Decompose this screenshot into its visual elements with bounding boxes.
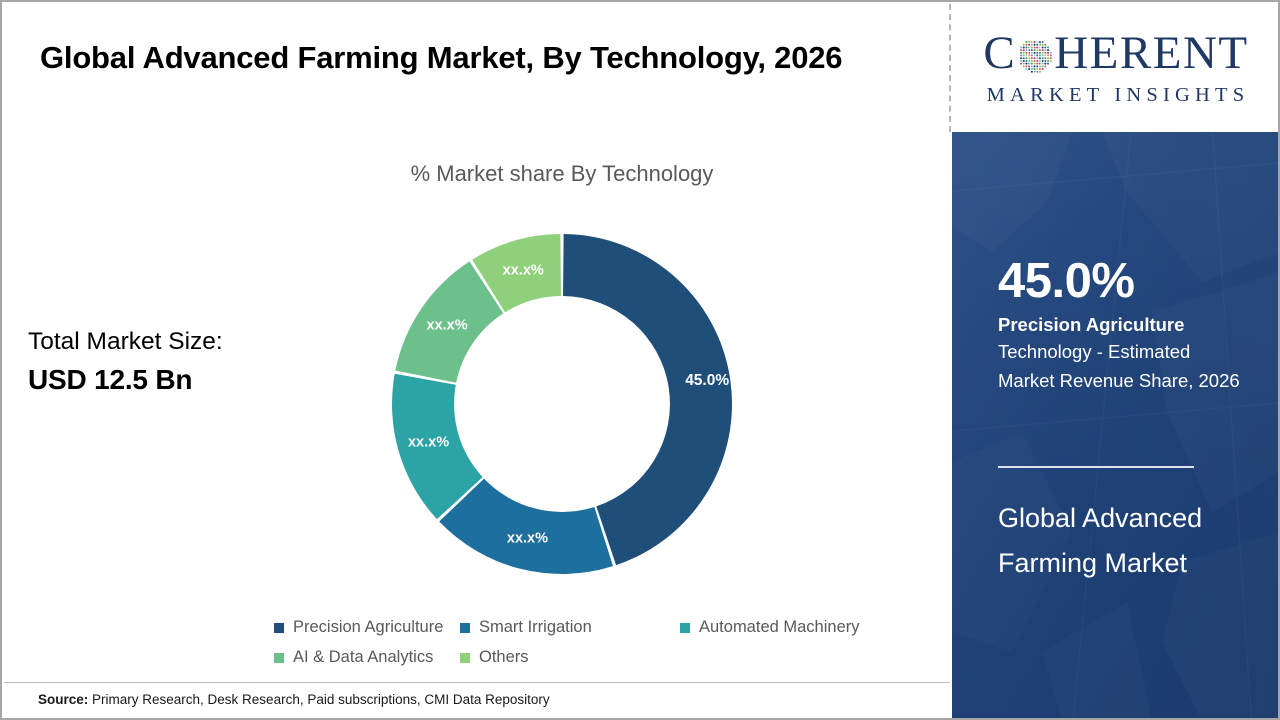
- legend-item[interactable]: Precision Agriculture: [274, 618, 460, 637]
- globe-dot: [1036, 46, 1038, 48]
- logo-wordmark: C HERENT: [983, 30, 1250, 77]
- donut-slice-group: [392, 234, 732, 574]
- globe-dot: [1020, 57, 1022, 59]
- globe-dot: [1023, 43, 1025, 45]
- globe-dot: [1023, 49, 1025, 51]
- chart-subtitle: % Market share By Technology: [302, 161, 822, 187]
- globe-dot: [1045, 62, 1047, 64]
- legend-row: Precision AgricultureSmart IrrigationAut…: [274, 618, 894, 648]
- total-market-size-block: Total Market Size: USD 12.5 Bn: [28, 324, 328, 399]
- globe-dot: [1042, 68, 1044, 70]
- globe-dot: [1031, 46, 1033, 48]
- logo-letters-herent: HERENT: [1054, 30, 1248, 77]
- logo-letter-c: C: [983, 30, 1016, 77]
- globe-dot: [1039, 57, 1041, 59]
- globe-dot: [1050, 60, 1052, 62]
- globe-dot: [1050, 52, 1052, 54]
- logo-tagline: MARKET INSIGHTS: [983, 85, 1250, 106]
- chart-legend: Precision AgricultureSmart IrrigationAut…: [274, 618, 894, 678]
- globe-dot: [1036, 65, 1038, 67]
- globe-dot: [1023, 57, 1025, 59]
- legend-swatch-icon: [680, 623, 690, 633]
- globe-dot: [1026, 46, 1028, 48]
- globe-dot: [1026, 60, 1028, 62]
- source-line: Source: Primary Research, Desk Research,…: [38, 692, 550, 707]
- globe-dot: [1039, 52, 1041, 54]
- globe-dot: [1042, 49, 1044, 51]
- globe-dot: [1045, 57, 1047, 59]
- globe-dot: [1020, 52, 1022, 54]
- globe-dot: [1034, 65, 1036, 67]
- coherent-market-insights-logo: C HERENT MARKET INSIGHTS: [983, 30, 1250, 106]
- legend-item[interactable]: Others: [460, 648, 680, 667]
- globe-dot: [1042, 62, 1044, 64]
- stat-footer-title: Global Advanced Farming Market: [998, 496, 1243, 586]
- globe-dot: [1036, 49, 1038, 51]
- globe-dot: [1023, 46, 1025, 48]
- legend-label: Precision Agriculture: [293, 618, 443, 637]
- world-map-texture: [952, 132, 1280, 720]
- globe-dot: [1026, 43, 1028, 45]
- page-title: Global Advanced Farming Market, By Techn…: [40, 34, 920, 82]
- globe-dot: [1031, 70, 1033, 72]
- source-divider: [4, 682, 950, 683]
- globe-dot: [1020, 60, 1022, 62]
- globe-dot: [1047, 49, 1049, 51]
- globe-dot: [1050, 57, 1052, 59]
- stat-content: 45.0% Precision Agriculture Technology -…: [998, 256, 1243, 396]
- globe-dot: [1042, 65, 1044, 67]
- stat-category-name: Precision Agriculture: [998, 313, 1243, 337]
- globe-dot: [1047, 46, 1049, 48]
- globe-dot: [1023, 65, 1025, 67]
- donut-slice-label: xx.x%: [503, 262, 544, 278]
- globe-dot: [1026, 62, 1028, 64]
- globe-dot: [1023, 60, 1025, 62]
- globe-dot: [1036, 60, 1038, 62]
- source-label: Source:: [38, 692, 88, 707]
- donut-slice-label: xx.x%: [408, 435, 449, 451]
- globe-dot: [1045, 52, 1047, 54]
- globe-dot: [1026, 49, 1028, 51]
- globe-dot: [1034, 62, 1036, 64]
- legend-item[interactable]: Automated Machinery: [680, 618, 860, 637]
- globe-dot: [1034, 60, 1036, 62]
- globe-dot: [1036, 62, 1038, 64]
- globe-dot: [1031, 65, 1033, 67]
- legend-label: Automated Machinery: [699, 618, 860, 637]
- globe-dot: [1026, 68, 1028, 70]
- globe-dot: [1034, 43, 1036, 45]
- legend-row: AI & Data AnalyticsOthers: [274, 648, 894, 678]
- globe-dot: [1034, 49, 1036, 51]
- legend-label: Smart Irrigation: [479, 618, 592, 637]
- legend-item[interactable]: AI & Data Analytics: [274, 648, 460, 667]
- globe-dot: [1034, 41, 1036, 43]
- left-content-area: Global Advanced Farming Market, By Techn…: [2, 2, 950, 720]
- globe-dot: [1020, 49, 1022, 51]
- globe-dot: [1036, 43, 1038, 45]
- globe-dot: [1034, 57, 1036, 59]
- globe-dot: [1026, 41, 1028, 43]
- logo-panel: C HERENT MARKET INSIGHTS: [952, 4, 1280, 132]
- globe-dot: [1047, 60, 1049, 62]
- globe-dot: [1039, 60, 1041, 62]
- globe-dot: [1031, 60, 1033, 62]
- donut-chart-svg: 45.0%xx.x%xx.x%xx.x%xx.x%: [387, 229, 737, 579]
- globe-dot: [1045, 49, 1047, 51]
- globe-dot: [1047, 57, 1049, 59]
- globe-dot: [1026, 57, 1028, 59]
- globe-dot: [1031, 52, 1033, 54]
- globe-dot: [1045, 65, 1047, 67]
- dotted-globe-icon: [1017, 38, 1053, 74]
- stat-value: 45.0%: [998, 256, 1243, 307]
- total-market-size-label: Total Market Size:: [28, 324, 328, 360]
- globe-dot: [1020, 46, 1022, 48]
- globe-dot: [1034, 46, 1036, 48]
- legend-swatch-icon: [274, 623, 284, 633]
- globe-dot: [1031, 49, 1033, 51]
- globe-dot: [1039, 49, 1041, 51]
- globe-dot: [1042, 41, 1044, 43]
- globe-dot: [1026, 65, 1028, 67]
- donut-chart: 45.0%xx.x%xx.x%xx.x%xx.x%: [387, 229, 737, 579]
- highlight-stat-panel: 45.0% Precision Agriculture Technology -…: [952, 132, 1280, 720]
- globe-dot: [1045, 60, 1047, 62]
- globe-dot: [1036, 52, 1038, 54]
- legend-label: AI & Data Analytics: [293, 648, 433, 667]
- legend-item[interactable]: Smart Irrigation: [460, 618, 680, 637]
- globe-dot: [1042, 46, 1044, 48]
- globe-dot: [1026, 52, 1028, 54]
- globe-dot: [1031, 57, 1033, 59]
- globe-dot: [1034, 68, 1036, 70]
- globe-dot: [1039, 41, 1041, 43]
- globe-dot: [1023, 52, 1025, 54]
- donut-slice-label: xx.x%: [507, 530, 548, 546]
- globe-dot: [1042, 43, 1044, 45]
- legend-swatch-icon: [460, 653, 470, 663]
- stat-divider-rule: [998, 466, 1194, 468]
- globe-dot: [1034, 52, 1036, 54]
- globe-dot: [1028, 68, 1030, 70]
- globe-dot: [1045, 43, 1047, 45]
- legend-label: Others: [479, 648, 529, 667]
- total-market-size-value: USD 12.5 Bn: [28, 360, 328, 399]
- source-text: Primary Research, Desk Research, Paid su…: [88, 692, 549, 707]
- legend-swatch-icon: [460, 623, 470, 633]
- donut-slice-label: xx.x%: [426, 318, 467, 334]
- globe-dot: [1020, 62, 1022, 64]
- globe-dot: [1047, 52, 1049, 54]
- legend-swatch-icon: [274, 653, 284, 663]
- globe-dot: [1045, 46, 1047, 48]
- globe-dot: [1047, 62, 1049, 64]
- globe-dot: [1039, 70, 1041, 72]
- panel-divider: [949, 4, 951, 132]
- stat-description: Technology - Estimated Market Revenue Sh…: [998, 338, 1243, 395]
- globe-dot: [1028, 41, 1030, 43]
- slide-canvas: Global Advanced Farming Market, By Techn…: [0, 0, 1280, 720]
- globe-dot: [1023, 62, 1025, 64]
- globe-dot: [1036, 57, 1038, 59]
- donut-slice-label: 45.0%: [685, 372, 729, 389]
- globe-dot: [1042, 60, 1044, 62]
- globe-dot: [1031, 62, 1033, 64]
